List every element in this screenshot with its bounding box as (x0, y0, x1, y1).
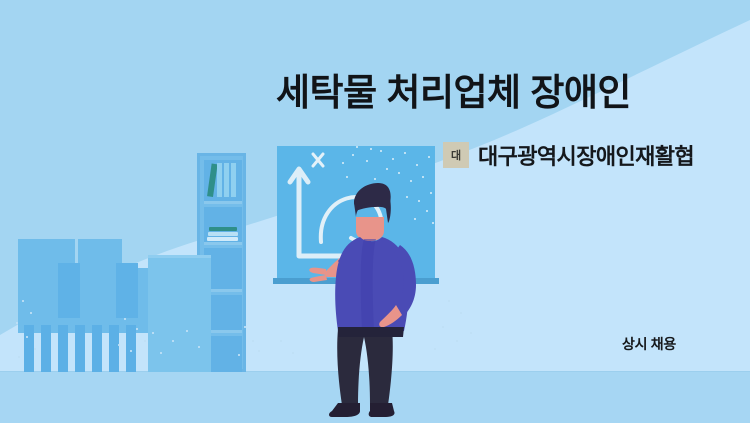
book-vertical-3 (231, 163, 236, 197)
radiator-slat (109, 325, 119, 372)
radiator-slat (58, 325, 68, 372)
radiator-slat (41, 325, 51, 372)
bookshelf-shelf-2 (204, 207, 242, 245)
organization-badge: 대 (443, 142, 469, 168)
man-head (354, 183, 391, 241)
man-shoes (329, 403, 395, 417)
book-horizontal-teal (209, 227, 237, 231)
radiator-slat (24, 325, 34, 372)
standing-man-illustration (300, 165, 440, 423)
book-vertical-2 (224, 163, 229, 197)
organization-name: 대구광역시장애인재활협 (478, 139, 694, 171)
bookshelf-shelf-1 (204, 160, 242, 204)
radiator-slat (126, 325, 136, 372)
book-horizontal-1 (208, 232, 238, 236)
status-badge: 상시 채용 (622, 334, 676, 354)
radiator-slat (92, 325, 102, 372)
book-vertical-1 (217, 163, 222, 197)
cabinet-panel-2 (116, 263, 138, 321)
organization-row: 대 대구광역시장애인재활협 (443, 139, 694, 171)
book-vertical-teal (207, 163, 218, 197)
page-title: 세탁물 처리업체 장애인 (276, 74, 631, 111)
book-horizontal-2 (207, 237, 238, 241)
man-pants (337, 327, 404, 405)
desk (148, 258, 211, 372)
cabinet-panel-1 (58, 263, 80, 321)
radiator-slat (75, 325, 85, 372)
recruitment-poster: 세탁물 처리업체 장애인 대 대구광역시장애인재활협 상시 채용 (0, 0, 750, 423)
